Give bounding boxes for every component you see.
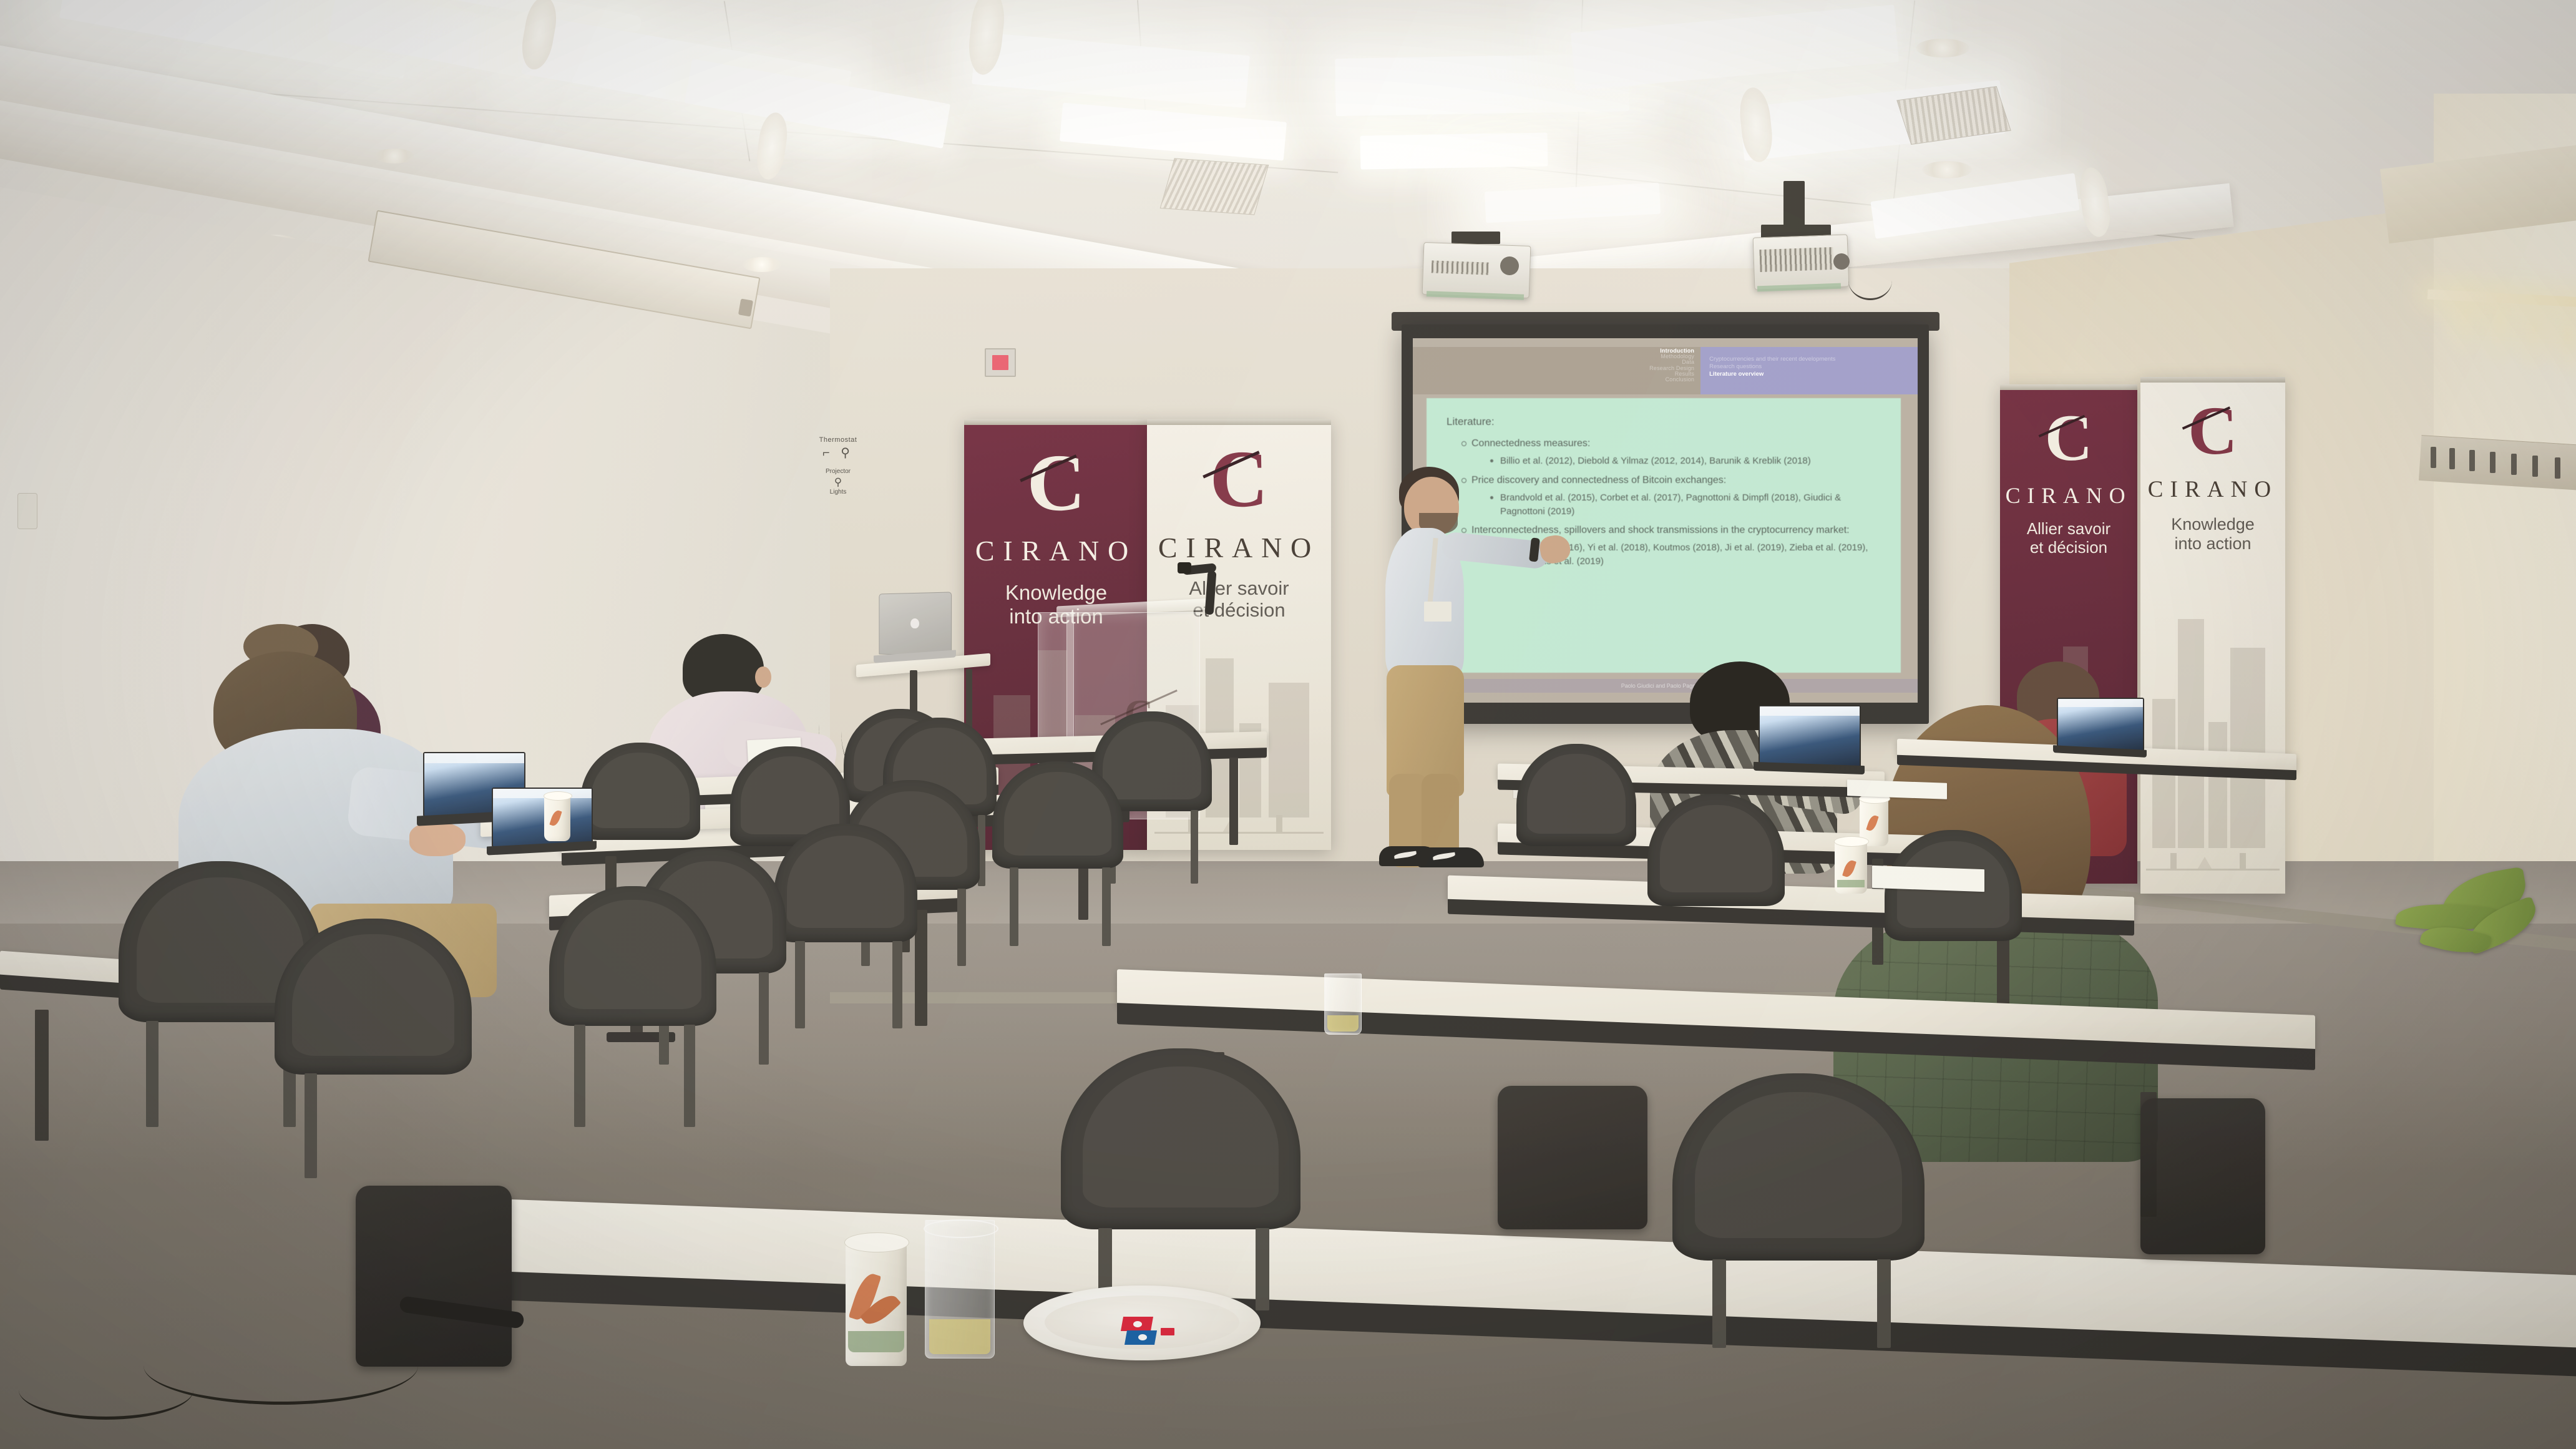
coat-hook[interactable] — [2469, 450, 2475, 471]
lectern-microphone[interactable] — [1180, 559, 1236, 618]
cirano-logo: C — [964, 442, 1148, 524]
chair[interactable] — [1885, 830, 2028, 1017]
coat-hook[interactable] — [2449, 448, 2455, 469]
coat-hook[interactable] — [2532, 456, 2538, 477]
table-foreground — [412, 1236, 2576, 1449]
slide-navigation-bar: Introduction Methodology Data Research D… — [1413, 347, 1918, 394]
slide-subnav-item-crypto-developments: Cryptocurrencies and their recent develo… — [1709, 356, 1835, 363]
dominos-logo — [1122, 1317, 1182, 1345]
slide-nav-subsections: Cryptocurrencies and their recent develo… — [1700, 347, 1918, 394]
macbook-laptop[interactable] — [874, 593, 955, 668]
slide-subnav-item-literature-overview: Literature overview — [1709, 371, 1835, 378]
banner-brand: CIRANO — [964, 534, 1148, 567]
bag-center[interactable] — [1498, 1086, 1647, 1229]
slide-subnav-item-research-questions: Research questions — [1709, 363, 1835, 371]
attendee-ear — [755, 666, 771, 688]
banner-tagline-line2: into action — [2140, 534, 2285, 554]
cirano-logo: C — [2140, 396, 2285, 465]
ceiling-projector-left — [1423, 240, 1535, 315]
chair[interactable] — [1647, 794, 1791, 981]
cirano-logo: C — [1147, 439, 1331, 520]
wall-control-placard: Thermostat ⌐ ⚲ Projector ⚲ Lights — [801, 437, 876, 495]
laptop-center-attendee[interactable] — [1754, 705, 1865, 783]
chair[interactable] — [275, 919, 481, 1181]
bag-right[interactable] — [2140, 1098, 2265, 1254]
slide-bullet-text: Connectedness measures: — [1471, 438, 1590, 449]
chair[interactable] — [1516, 744, 1641, 919]
cirano-logo: C — [2000, 405, 2137, 471]
banner-tagline-line1: Knowledge — [964, 581, 1148, 605]
presenter-shoe — [1418, 847, 1484, 867]
banner-tagline-line1: Allier savoir — [2000, 520, 2137, 539]
slide-nav-sections: Introduction Methodology Data Research D… — [1413, 347, 1700, 394]
banner-brand: CIRANO — [2000, 482, 2137, 509]
chair[interactable] — [1672, 1073, 1934, 1348]
laptop-left-attendee-2[interactable] — [487, 788, 597, 862]
coat-hook[interactable] — [2490, 452, 2495, 473]
laptop-right-attendee[interactable] — [2053, 698, 2147, 765]
dominos-paper-plate[interactable] — [1023, 1286, 1261, 1360]
paper-cup[interactable] — [1835, 836, 1867, 894]
banner-brand: CIRANO — [1147, 531, 1331, 564]
ceiling-projector-right — [1754, 225, 1878, 306]
plastic-cup[interactable] — [1324, 973, 1362, 1035]
banner-tagline-line1: Allier savoir — [1147, 577, 1331, 599]
conference-room-photo: Thermostat ⌐ ⚲ Projector ⚲ Lights Introd… — [0, 0, 2576, 1449]
chair[interactable] — [549, 886, 724, 1129]
cup-green-band — [848, 1331, 904, 1352]
paper-cup[interactable] — [544, 791, 570, 841]
papers-on-table — [1847, 779, 1947, 799]
slide-nav-item-conclusion: Conclusion — [1649, 377, 1694, 383]
floor-plant — [2384, 874, 2565, 986]
coat-hook[interactable] — [2555, 457, 2560, 479]
notebook-on-table — [1872, 866, 1984, 892]
plastic-cup-with-juice[interactable] — [925, 1220, 995, 1359]
chair[interactable] — [992, 761, 1129, 949]
banner-tagline-line1: Knowledge — [2140, 515, 2285, 534]
banner-tagline-line2: et décision — [2000, 539, 2137, 557]
paper-cup-leaf-pattern[interactable] — [846, 1232, 907, 1367]
chair[interactable] — [1061, 1048, 1310, 1310]
presenter-badge — [1424, 602, 1451, 622]
banner-brand: CIRANO — [2140, 476, 2285, 503]
exit-sign — [985, 348, 1016, 377]
chair[interactable] — [774, 824, 924, 1030]
coat-hook[interactable] — [2431, 447, 2436, 468]
slide-heading: Literature: — [1447, 414, 1885, 430]
wall-thermostat[interactable] — [17, 493, 37, 529]
projector-cable — [1848, 261, 1892, 300]
coat-hook[interactable] — [2511, 454, 2517, 475]
floor-cable — [19, 1360, 193, 1420]
